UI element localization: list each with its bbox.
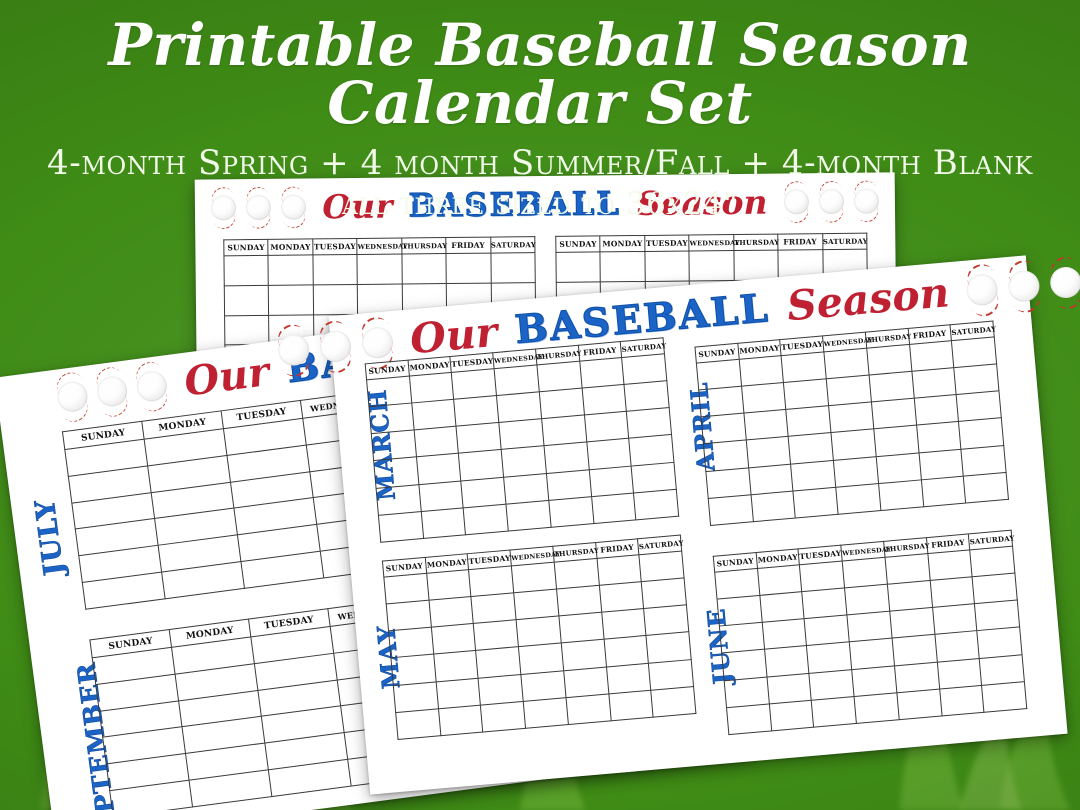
month-label-july: JULY xyxy=(30,497,71,577)
day-cell[interactable] xyxy=(539,388,584,419)
day-cell[interactable] xyxy=(802,588,847,619)
day-cell[interactable] xyxy=(582,385,627,416)
day-cell[interactable] xyxy=(809,669,854,700)
calendar-body[interactable] xyxy=(367,354,679,542)
day-cell[interactable] xyxy=(504,473,549,504)
day-cell[interactable] xyxy=(469,566,514,597)
day-cell[interactable] xyxy=(544,442,589,473)
day-cell[interactable] xyxy=(497,392,542,423)
screenshot-stage: Printable Baseball Season Calendar Set 4… xyxy=(0,0,1080,810)
day-cell[interactable] xyxy=(932,604,977,635)
day-cell[interactable] xyxy=(847,611,892,642)
calendar-body[interactable] xyxy=(715,546,1027,734)
day-cell[interactable] xyxy=(604,636,649,667)
day-cell[interactable] xyxy=(708,495,753,526)
baseball-icon xyxy=(56,380,90,414)
day-cell[interactable] xyxy=(597,555,642,586)
day-cell[interactable] xyxy=(934,631,979,662)
day-cell[interactable] xyxy=(804,615,849,646)
day-cell[interactable] xyxy=(703,440,748,471)
day-cell[interactable] xyxy=(724,677,769,708)
day-cell[interactable] xyxy=(970,546,1015,577)
day-cell[interactable] xyxy=(367,376,412,407)
day-cell[interactable] xyxy=(452,369,497,400)
day-cell[interactable] xyxy=(419,481,464,512)
day-cell[interactable] xyxy=(824,348,869,379)
day-cell[interactable] xyxy=(554,558,599,589)
day-cell[interactable] xyxy=(645,251,690,281)
calendar-body[interactable] xyxy=(696,337,1008,525)
day-cell[interactable] xyxy=(812,696,857,727)
day-cell[interactable] xyxy=(438,705,483,736)
day-cell[interactable] xyxy=(791,460,836,491)
day-cell[interactable] xyxy=(651,686,696,717)
day-cell[interactable] xyxy=(764,646,809,677)
day-cell[interactable] xyxy=(624,381,669,412)
day-cell[interactable] xyxy=(634,489,679,520)
day-cell[interactable] xyxy=(849,638,894,669)
day-cell[interactable] xyxy=(376,484,421,515)
weekday-header: WEDNESDAY xyxy=(357,238,402,254)
day-cell[interactable] xyxy=(689,251,734,281)
day-cell[interactable] xyxy=(890,608,935,639)
calendar-table[interactable]: SUNDAY MONDAY TUESDAY WEDNESDAY THURSDAY… xyxy=(365,337,680,542)
day-cell[interactable] xyxy=(313,284,358,314)
day-cell[interactable] xyxy=(876,453,921,484)
weekday-header: MONDAY xyxy=(600,235,645,251)
day-cell[interactable] xyxy=(744,410,789,441)
day-cell[interactable] xyxy=(378,511,423,542)
day-cell[interactable] xyxy=(897,689,942,720)
day-cell[interactable] xyxy=(393,682,438,713)
day-cell[interactable] xyxy=(549,496,594,527)
day-cell[interactable] xyxy=(429,597,474,628)
day-cell[interactable] xyxy=(606,663,651,694)
day-cell[interactable] xyxy=(537,361,582,392)
baseball-icon xyxy=(318,329,352,363)
day-cell[interactable] xyxy=(767,673,812,704)
day-cell[interactable] xyxy=(490,253,535,283)
weekday-header: SATURDAY xyxy=(490,237,535,253)
day-cell[interactable] xyxy=(831,429,876,460)
weekday-header: THURSDAY xyxy=(733,234,778,250)
day-cell[interactable] xyxy=(374,457,419,488)
subtitle-line-2: all three sized to 36x24" xyxy=(0,187,1080,223)
day-cell[interactable] xyxy=(389,627,434,658)
day-cell[interactable] xyxy=(961,445,1006,476)
day-cell[interactable] xyxy=(436,678,481,709)
day-cell[interactable] xyxy=(706,468,751,499)
day-cell[interactable] xyxy=(471,593,516,624)
weekday-header: TUESDAY xyxy=(313,238,358,254)
day-cell[interactable] xyxy=(916,422,961,453)
calendar-grid-march[interactable]: SUNDAY MONDAY TUESDAY WEDNESDAY THURSDAY… xyxy=(365,337,680,542)
day-cell[interactable] xyxy=(433,651,478,682)
day-cell[interactable] xyxy=(885,554,930,585)
day-cell[interactable] xyxy=(952,337,997,368)
day-cell[interactable] xyxy=(715,569,760,600)
day-cell[interactable] xyxy=(426,570,471,601)
weekday-header: FRIDAY xyxy=(778,234,823,250)
day-cell[interactable] xyxy=(523,697,568,728)
day-cell[interactable] xyxy=(601,609,646,640)
day-cell[interactable] xyxy=(727,704,772,735)
day-cell[interactable] xyxy=(982,681,1027,712)
weekday-header: WEDNESDAY xyxy=(689,235,734,251)
day-cell[interactable] xyxy=(511,562,556,593)
day-cell[interactable] xyxy=(499,419,544,450)
day-cell[interactable] xyxy=(854,693,899,724)
day-cell[interactable] xyxy=(269,285,314,315)
day-cell[interactable] xyxy=(391,655,436,686)
day-cell[interactable] xyxy=(963,472,1008,503)
day-cell[interactable] xyxy=(649,659,694,690)
weekday-header: FRIDAY xyxy=(446,237,491,253)
day-cell[interactable] xyxy=(911,368,956,399)
calendar-grid-may[interactable]: SUNDAY MONDAY TUESDAY WEDNESDAY THURSDAY… xyxy=(382,535,697,740)
day-cell[interactable] xyxy=(979,654,1024,685)
calendar-grid-april[interactable]: SUNDAY MONDAY TUESDAY WEDNESDAY THURSDAY… xyxy=(694,320,1009,525)
day-cell[interactable] xyxy=(954,364,999,395)
day-cell[interactable] xyxy=(627,408,672,439)
day-cell[interactable] xyxy=(644,605,689,636)
day-cell[interactable] xyxy=(748,464,793,495)
day-cell[interactable] xyxy=(456,423,501,454)
day-cell[interactable] xyxy=(224,285,269,315)
day-cell[interactable] xyxy=(357,254,402,284)
day-cell[interactable] xyxy=(519,643,564,674)
day-cell[interactable] xyxy=(786,406,831,437)
day-cell[interactable] xyxy=(514,589,559,620)
banner-word-our: Our xyxy=(181,348,271,406)
day-cell[interactable] xyxy=(396,709,441,740)
baseball-icon xyxy=(135,369,169,403)
day-cell[interactable] xyxy=(446,253,491,283)
day-cell[interactable] xyxy=(977,627,1022,658)
day-cell[interactable] xyxy=(559,613,604,644)
day-cell[interactable] xyxy=(975,600,1020,631)
day-cell[interactable] xyxy=(566,694,611,725)
day-cell[interactable] xyxy=(494,365,539,396)
day-cell[interactable] xyxy=(699,386,744,417)
day-cell[interactable] xyxy=(431,624,476,655)
day-cell[interactable] xyxy=(781,352,826,383)
day-cell[interactable] xyxy=(696,359,741,390)
day-cell[interactable] xyxy=(833,456,878,487)
day-cell[interactable] xyxy=(746,437,791,468)
day-cell[interactable] xyxy=(871,399,916,430)
weekday-header: SUNDAY xyxy=(224,239,269,255)
day-cell[interactable] xyxy=(384,573,429,604)
baseball-icon xyxy=(276,333,310,367)
day-cell[interactable] xyxy=(414,426,459,457)
day-cell[interactable] xyxy=(836,483,881,514)
day-cell[interactable] xyxy=(894,662,939,693)
calendar-table[interactable]: SUNDAY MONDAY TUESDAY WEDNESDAY THURSDAY… xyxy=(713,530,1028,735)
day-cell[interactable] xyxy=(521,670,566,701)
day-cell[interactable] xyxy=(639,551,684,582)
day-cell[interactable] xyxy=(631,462,676,493)
subtitle-line-1: 4-month Spring + 4 month Summer/Fall + 4… xyxy=(0,144,1080,183)
day-cell[interactable] xyxy=(930,577,975,608)
day-cell[interactable] xyxy=(717,596,762,627)
day-cell[interactable] xyxy=(579,358,624,389)
day-cell[interactable] xyxy=(807,642,852,673)
day-cell[interactable] xyxy=(959,418,1004,449)
day-cell[interactable] xyxy=(921,476,966,507)
day-cell[interactable] xyxy=(481,701,526,732)
day-cell[interactable] xyxy=(734,250,779,280)
weekday-header: THURSDAY xyxy=(401,238,446,254)
day-cell[interactable] xyxy=(757,565,802,596)
day-cell[interactable] xyxy=(589,466,634,497)
day-cell[interactable] xyxy=(409,372,454,403)
day-cell[interactable] xyxy=(386,600,431,631)
weekday-header: MONDAY xyxy=(268,239,313,255)
day-cell[interactable] xyxy=(701,413,746,444)
day-cell[interactable] xyxy=(591,493,636,524)
day-cell[interactable] xyxy=(478,674,523,705)
day-cell[interactable] xyxy=(784,379,829,410)
day-cell[interactable] xyxy=(842,557,887,588)
day-cell[interactable] xyxy=(546,469,591,500)
day-cell[interactable] xyxy=(416,454,461,485)
day-cell[interactable] xyxy=(600,251,645,281)
day-cell[interactable] xyxy=(556,586,601,617)
day-cell[interactable] xyxy=(972,573,1017,604)
day-cell[interactable] xyxy=(474,620,519,651)
day-cell[interactable] xyxy=(751,491,796,522)
day-cell[interactable] xyxy=(939,685,984,716)
day-cell[interactable] xyxy=(887,581,932,612)
day-cell[interactable] xyxy=(421,508,466,539)
day-cell[interactable] xyxy=(874,426,919,457)
day-cell[interactable] xyxy=(599,582,644,613)
day-cell[interactable] xyxy=(826,375,871,406)
day-cell[interactable] xyxy=(829,402,874,433)
day-cell[interactable] xyxy=(506,500,551,531)
calendar-grid-june[interactable]: SUNDAY MONDAY TUESDAY WEDNESDAY THURSDAY… xyxy=(713,530,1028,735)
calendar-body[interactable] xyxy=(384,551,696,739)
day-cell[interactable] xyxy=(563,667,608,698)
day-cell[interactable] xyxy=(937,658,982,689)
banner-word-season: Season xyxy=(785,268,951,330)
weekday-header: SATURDAY xyxy=(822,233,867,249)
day-cell[interactable] xyxy=(541,415,586,446)
calendar-table[interactable]: SUNDAY MONDAY TUESDAY WEDNESDAY THURSDAY… xyxy=(382,535,697,740)
day-cell[interactable] xyxy=(224,255,269,285)
day-cell[interactable] xyxy=(646,632,691,663)
day-cell[interactable] xyxy=(878,480,923,511)
day-cell[interactable] xyxy=(892,635,937,666)
day-cell[interactable] xyxy=(769,700,814,731)
day-cell[interactable] xyxy=(909,341,954,372)
day-cell[interactable] xyxy=(629,435,674,466)
day-cell[interactable] xyxy=(793,487,838,518)
day-cell[interactable] xyxy=(760,592,805,623)
day-cell[interactable] xyxy=(313,254,358,284)
day-cell[interactable] xyxy=(584,412,629,443)
day-cell[interactable] xyxy=(371,430,416,461)
day-cell[interactable] xyxy=(722,650,767,681)
day-cell[interactable] xyxy=(762,619,807,650)
day-cell[interactable] xyxy=(402,254,447,284)
table-row[interactable] xyxy=(224,253,535,286)
day-cell[interactable] xyxy=(459,450,504,481)
day-cell[interactable] xyxy=(869,371,914,402)
page-title: Printable Baseball Season Calendar Set xyxy=(0,16,1080,132)
day-cell[interactable] xyxy=(501,446,546,477)
day-cell[interactable] xyxy=(845,584,890,615)
day-cell[interactable] xyxy=(741,383,786,414)
day-cell[interactable] xyxy=(919,449,964,480)
baseball-icon xyxy=(1049,265,1080,299)
baseball-icon xyxy=(966,273,1000,307)
day-cell[interactable] xyxy=(800,561,845,592)
day-cell[interactable] xyxy=(476,647,521,678)
day-cell[interactable] xyxy=(411,399,456,430)
day-cell[interactable] xyxy=(608,690,653,721)
baseball-icon xyxy=(1007,269,1041,303)
day-cell[interactable] xyxy=(516,616,561,647)
day-cell[interactable] xyxy=(556,252,601,282)
day-cell[interactable] xyxy=(867,344,912,375)
day-cell[interactable] xyxy=(641,578,686,609)
day-cell[interactable] xyxy=(914,395,959,426)
day-cell[interactable] xyxy=(622,354,667,385)
header: Printable Baseball Season Calendar Set 4… xyxy=(0,0,1080,223)
day-cell[interactable] xyxy=(225,315,270,345)
day-cell[interactable] xyxy=(268,255,313,285)
spring-calendar-sheet[interactable]: Our BASEBALL Season MARCH SUNDAY MONDAY … xyxy=(328,255,1067,794)
day-cell[interactable] xyxy=(561,640,606,671)
weekday-header: TUESDAY xyxy=(645,235,690,251)
day-cell[interactable] xyxy=(852,666,897,697)
day-cell[interactable] xyxy=(956,391,1001,422)
day-cell[interactable] xyxy=(461,477,506,508)
day-cell[interactable] xyxy=(789,433,834,464)
calendar-table[interactable]: SUNDAY MONDAY TUESDAY WEDNESDAY THURSDAY… xyxy=(694,320,1009,525)
day-cell[interactable] xyxy=(739,356,784,387)
day-cell[interactable] xyxy=(719,623,764,654)
day-cell[interactable] xyxy=(927,550,972,581)
weekday-header: SUNDAY xyxy=(556,236,601,252)
day-cell[interactable] xyxy=(454,396,499,427)
day-cell[interactable] xyxy=(369,403,414,434)
baseball-icon xyxy=(95,375,129,409)
day-cell[interactable] xyxy=(464,504,509,535)
day-cell[interactable] xyxy=(586,439,631,470)
baseball-icon xyxy=(360,325,394,359)
